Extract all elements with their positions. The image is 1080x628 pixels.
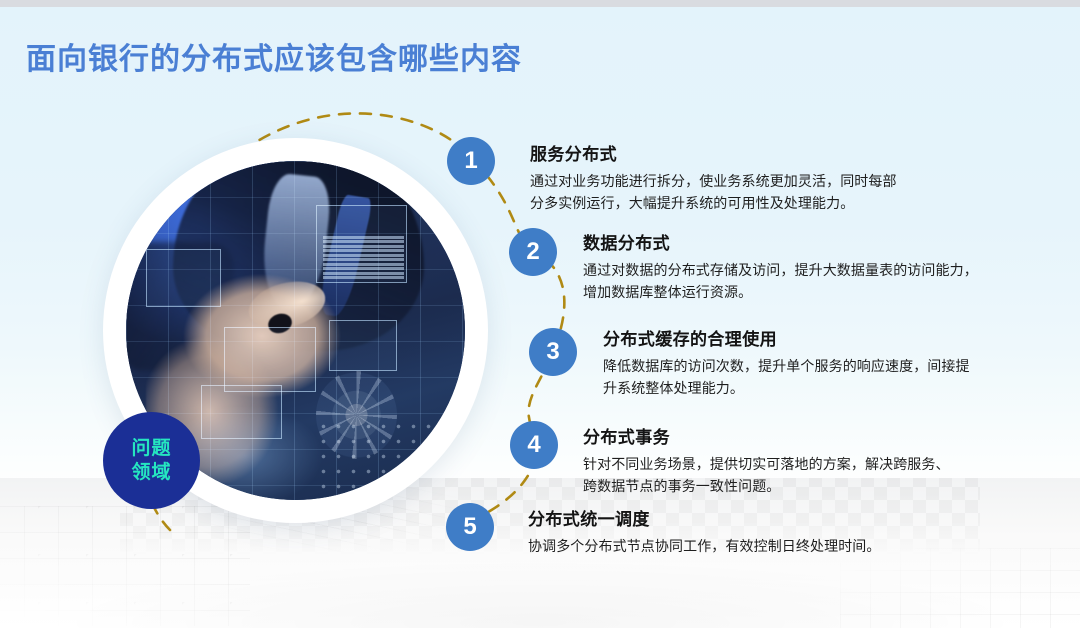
item-number-badge-1[interactable]: 1 [447, 137, 495, 185]
problem-domain-badge: 问题 领域 [103, 412, 200, 509]
item-number-badge-4[interactable]: 4 [510, 421, 558, 469]
photo-hud-panel [329, 320, 397, 371]
page-title: 面向银行的分布式应该包含哪些内容 [26, 34, 522, 78]
photo-hud-panel [146, 249, 221, 307]
photo-hud-bars [323, 236, 404, 280]
item-number-3: 3 [546, 338, 559, 366]
item-number-badge-2[interactable]: 2 [509, 228, 557, 276]
top-strip [0, 0, 1080, 7]
item-body-4: 针对不同业务场景，提供切实可落地的方案，解决跨服务、 跨数据节点的事务一致性问题… [583, 453, 1003, 497]
item-heading-4: 分布式事务 [583, 423, 1003, 448]
item-number-badge-3[interactable]: 3 [529, 328, 577, 376]
item-text-2: 数据分布式 通过对数据的分布式存储及访问，提升大数据量表的访问能力， 增加数据库… [583, 229, 1003, 303]
item-heading-3: 分布式缓存的合理使用 [603, 325, 1003, 350]
item-number-badge-5[interactable]: 5 [446, 503, 494, 551]
item-heading-5: 分布式统一调度 [528, 505, 988, 530]
item-text-1: 服务分布式 通过对业务功能进行拆分，使业务系统更加灵活，同时每部 分多实例运行，… [530, 140, 1000, 214]
item-body-3: 降低数据库的访问次数，提升单个服务的响应速度，间接提 升系统整体处理能力。 [603, 355, 1003, 399]
item-text-3: 分布式缓存的合理使用 降低数据库的访问次数，提升单个服务的响应速度，间接提 升系… [603, 325, 1003, 399]
problem-domain-line2: 领域 [131, 461, 171, 484]
item-number-5: 5 [463, 513, 476, 541]
item-body-1: 通过对业务功能进行拆分，使业务系统更加灵活，同时每部 分多实例运行，大幅提升系统… [530, 170, 1000, 214]
item-body-5: 协调多个分布式节点协同工作，有效控制日终处理时间。 [528, 535, 988, 557]
problem-domain-line1: 问题 [131, 437, 171, 460]
photo-dot-matrix [316, 419, 452, 500]
item-number-2: 2 [526, 238, 539, 266]
cube-blocks-left [0, 506, 250, 626]
item-text-4: 分布式事务 针对不同业务场景，提供切实可落地的方案，解决跨服务、 跨数据节点的事… [583, 423, 1003, 497]
item-heading-1: 服务分布式 [530, 140, 1000, 165]
slide-canvas: 面向银行的分布式应该包含哪些内容 问题 领域 [0, 0, 1080, 628]
item-number-1: 1 [464, 147, 477, 175]
photo-hud-panel [224, 327, 316, 391]
item-text-5: 分布式统一调度 协调多个分布式节点协同工作，有效控制日终处理时间。 [528, 505, 988, 557]
item-number-4: 4 [527, 431, 540, 459]
item-heading-2: 数据分布式 [583, 229, 1003, 254]
cube-blocks-right [840, 548, 1080, 628]
item-body-2: 通过对数据的分布式存储及访问，提升大数据量表的访问能力， 增加数据库整体运行资源… [583, 259, 1003, 303]
